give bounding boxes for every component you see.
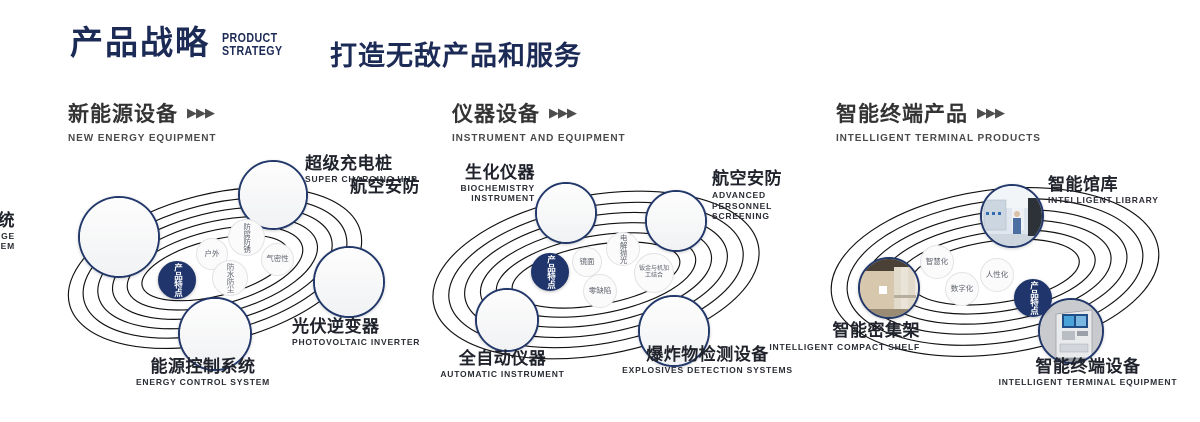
bubble-label: 镜面: [580, 258, 595, 266]
section-title-cn: 智能终端产品: [836, 98, 968, 128]
label-automatic-instrument: 全自动仪器 AUTOMATIC INSTRUMENT: [395, 350, 610, 380]
label-cn: 生化仪器: [410, 164, 535, 182]
bubble-airtightness[interactable]: 气密性: [261, 243, 294, 276]
chevron-right-icon: ▶▶▶: [549, 105, 576, 121]
bubble-label: 数字化: [951, 285, 974, 293]
label-biochemistry-instrument: 生化仪器 BIOCHEMISTRY INSTRUMENT: [410, 164, 535, 204]
node-biochemistry-instrument[interactable]: [535, 182, 597, 244]
chevron-right-icon: ▶▶▶: [187, 105, 214, 121]
label-en: ENERGY CONTROL SYSTEM: [78, 378, 328, 387]
section-title-cn: 新能源设备: [68, 98, 178, 128]
bubble-digital[interactable]: 数字化: [945, 272, 979, 306]
cluster-instrument-and-equipment: 生化仪器 BIOCHEMISTRY INSTRUMENT 航空安防 航空安防 A…: [400, 150, 800, 400]
bubble-product-features[interactable]: 产品特点: [158, 261, 196, 299]
bubble-label: 产品特点: [546, 255, 555, 289]
label-cn: 储能系统: [0, 212, 15, 230]
node-intelligent-library[interactable]: [980, 184, 1044, 248]
page-title-en-line2: STRATEGY: [222, 44, 283, 57]
bubble-label: 气密性: [266, 255, 289, 263]
section-title-cn: 仪器设备: [452, 98, 540, 128]
label-en: AUTOMATIC INSTRUMENT: [395, 370, 610, 379]
bubble-sheetmetal-machining[interactable]: 钣金与机加工结合: [634, 253, 674, 293]
product-strategy-infographic: 产品战略 PRODUCT STRATEGY 打造无敌产品和服务 新能源设备 ▶▶…: [0, 0, 1200, 422]
page-title-cn: 产品战略: [70, 26, 210, 59]
label-energy-storage-system: 储能系统 ENERGY STORAGE SYSTEM: [0, 212, 15, 251]
bubble-label: 电解抛光: [619, 234, 627, 264]
chevron-right-icon: ▶▶▶: [977, 105, 1004, 121]
label-intelligent-library: 智能馆库 INTELLIGENT LIBRARY: [1048, 176, 1188, 206]
bubble-label: 户外: [205, 250, 220, 258]
bubble-anticorrosion[interactable]: 防腐防锈: [228, 219, 265, 256]
section-header-instrument: 仪器设备 ▶▶▶ INSTRUMENT AND EQUIPMENT: [452, 98, 625, 144]
bubble-product-features[interactable]: 产品特点: [531, 253, 569, 291]
bubble-label: 人性化: [986, 271, 1009, 279]
label-energy-control-system: 能源控制系统 ENERGY CONTROL SYSTEM: [78, 358, 328, 388]
node-intelligent-compact-shelf[interactable]: [858, 257, 920, 319]
label-cn: 航空安防: [340, 178, 420, 196]
page-title: 产品战略 PRODUCT STRATEGY: [70, 26, 296, 59]
label-intelligent-terminal-equipment: 智能终端设备 INTELLIGENT TERMINAL EQUIPMENT: [968, 358, 1200, 388]
node-automatic-instrument[interactable]: [475, 288, 539, 352]
bubble-label: 零缺陷: [589, 287, 612, 295]
bubble-intelligent[interactable]: 智慧化: [920, 245, 954, 279]
bubble-product-features[interactable]: 产品特点: [1014, 279, 1052, 317]
section-header-intelligent-terminal: 智能终端产品 ▶▶▶ INTELLIGENT TERMINAL PRODUCTS: [836, 98, 1041, 144]
bubble-label: 产品特点: [1029, 281, 1038, 315]
label-en: ENERGY STORAGE SYSTEM: [0, 232, 15, 250]
bubble-zero-defect[interactable]: 零缺陷: [583, 274, 617, 308]
label-en: INTELLIGENT LIBRARY: [1048, 196, 1188, 205]
label-cn: 全自动仪器: [395, 350, 610, 368]
bubble-label: 产品特点: [173, 263, 182, 297]
page-tagline: 打造无敌产品和服务: [330, 34, 582, 73]
label-cn: 能源控制系统: [78, 358, 328, 376]
label-en: INTELLIGENT TERMINAL EQUIPMENT: [968, 378, 1200, 387]
bubble-humanized[interactable]: 人性化: [980, 258, 1014, 292]
section-title-en: INTELLIGENT TERMINAL PRODUCTS: [836, 133, 1041, 144]
node-advanced-personnel-screening[interactable]: [645, 190, 707, 252]
section-title-en: NEW ENERGY EQUIPMENT: [68, 133, 216, 144]
bubble-label: 防水防尘: [226, 263, 234, 293]
label-en: BIOCHEMISTRY INSTRUMENT: [410, 184, 535, 204]
section-title-en: INSTRUMENT AND EQUIPMENT: [452, 133, 625, 144]
bubble-waterproof-dustproof[interactable]: 防水防尘: [212, 260, 248, 296]
label-cn: 智能馆库: [1048, 176, 1188, 194]
label-aviation-security-left: 航空安防: [340, 178, 420, 196]
node-photovoltaic-inverter[interactable]: [313, 246, 385, 318]
bubble-mirror-finish[interactable]: 镜面: [572, 247, 602, 277]
label-cn: 智能密集架: [730, 322, 920, 340]
bubble-label: 智慧化: [926, 258, 949, 266]
label-en: INTELLIGENT COMPACT SHELF: [730, 342, 920, 352]
page-title-en: PRODUCT STRATEGY: [222, 31, 283, 57]
bubble-label: 防腐防锈: [242, 223, 250, 253]
bubble-label: 钣金与机加工结合: [638, 266, 670, 279]
cluster-intelligent-terminal-products: 智能馆库 INTELLIGENT LIBRARY 智能终端设备 INTELLIG…: [790, 150, 1200, 400]
bubble-electropolishing[interactable]: 电解抛光: [606, 232, 640, 266]
label-cn: 智能终端设备: [968, 358, 1200, 376]
label-intelligent-compact-shelf: 智能密集架 INTELLIGENT COMPACT SHELF: [730, 322, 920, 353]
section-header-new-energy: 新能源设备 ▶▶▶ NEW ENERGY EQUIPMENT: [68, 98, 216, 144]
node-energy-storage-system[interactable]: [78, 196, 160, 278]
